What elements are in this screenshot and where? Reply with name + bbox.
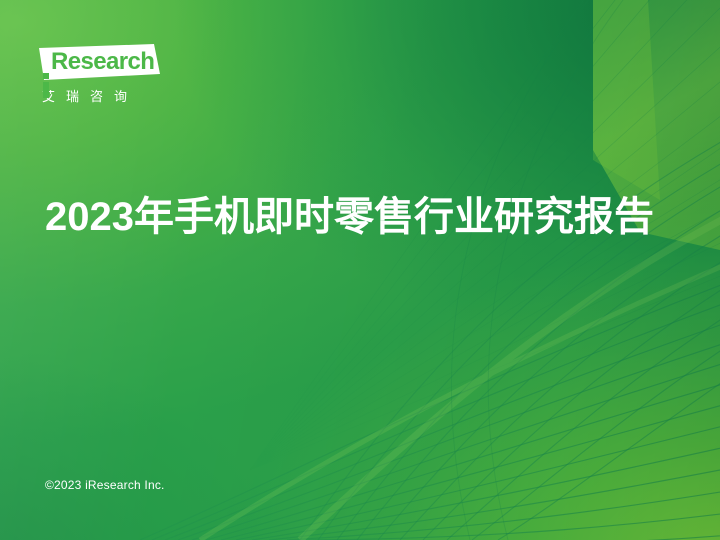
report-cover-slide: Research 艾瑞咨询 2023年手机即时零售行业研究报告 ©2023 iR… [0, 0, 720, 540]
copyright-footer: ©2023 iResearch Inc. [45, 478, 165, 492]
brand-logo: Research 艾瑞咨询 [36, 44, 266, 105]
logo-i-dot [43, 73, 49, 79]
logo-chinese-subtitle: 艾瑞咨询 [42, 86, 266, 105]
page-title: 2023年手机即时零售行业研究报告 [45, 188, 665, 246]
logo-i-stem [43, 82, 49, 98]
logo-wordmark-text: Research [51, 48, 154, 75]
logo-badge-shape: Research [36, 44, 160, 80]
logo-wordmark: Research [43, 47, 154, 77]
